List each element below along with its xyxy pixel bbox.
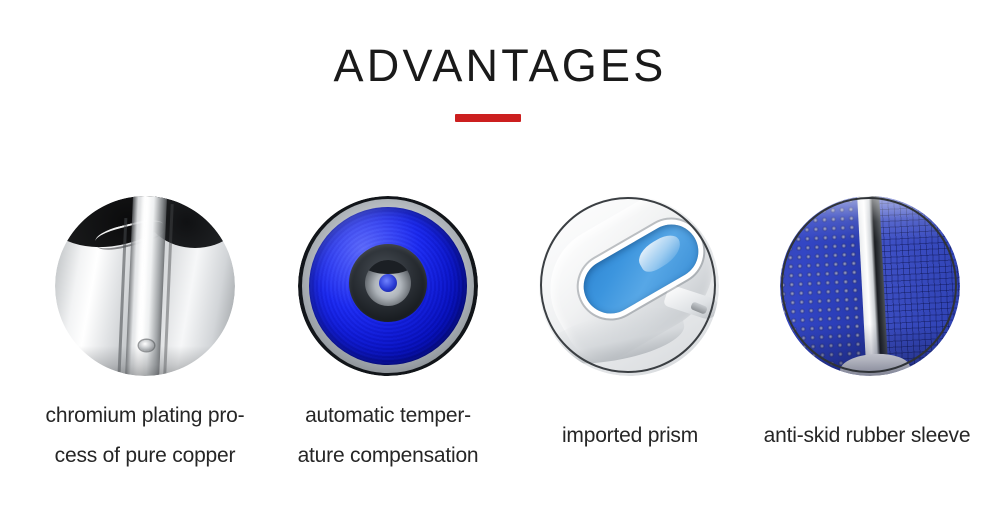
caption-chromium-plating: chromium plating pro- cess of pure coppe… (10, 396, 280, 476)
blue-ridged-eyepiece-photo (298, 196, 478, 376)
feature-image-temperature-compensation (298, 196, 478, 376)
caption-anti-skid-sleeve: anti-skid rubber sleeve (738, 396, 996, 456)
caption-imported-prism: imported prism (515, 396, 745, 456)
eyepiece-lens-core (379, 274, 397, 292)
caption-line: ature compensation (268, 436, 508, 476)
rubber-circle-outline (781, 197, 957, 373)
page-header: ADVANTAGES (0, 0, 1000, 140)
caption-line: automatic temper- (268, 396, 508, 436)
feature-image-chromium-plating (55, 196, 235, 376)
feature-image-row (0, 196, 1000, 396)
blue-textured-rubber-grip-photo (780, 196, 960, 376)
page-title: ADVANTAGES (0, 42, 1000, 90)
feature-image-anti-skid-sleeve (780, 196, 960, 376)
caption-line: cess of pure copper (10, 436, 280, 476)
caption-line: chromium plating pro- (10, 396, 280, 436)
chrome-plated-copper-barrel-photo (55, 196, 235, 376)
feature-caption-row: chromium plating pro- cess of pure coppe… (0, 396, 1000, 476)
prism-circle-outline (540, 197, 716, 373)
chrome-bottom-shading (55, 346, 235, 376)
caption-line: anti-skid rubber sleeve (738, 416, 996, 456)
caption-temperature-compensation: automatic temper- ature compensation (268, 396, 508, 476)
feature-image-imported-prism (539, 196, 719, 376)
prism-window-photo (539, 196, 719, 376)
eyepiece-lens-shadow (365, 260, 411, 274)
caption-line: imported prism (515, 416, 745, 456)
eyepiece-lens (365, 260, 411, 306)
title-underline-rule (455, 114, 521, 122)
